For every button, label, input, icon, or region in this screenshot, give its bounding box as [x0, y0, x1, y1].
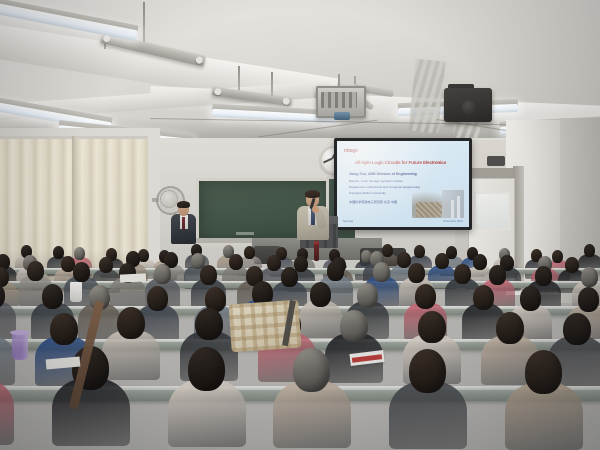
audience-member-head — [195, 308, 223, 341]
audience-member-head — [563, 313, 591, 346]
audience-member-head — [454, 264, 471, 284]
audience-member-head — [373, 262, 390, 282]
audience-member-head — [496, 312, 524, 345]
audience-member-head — [415, 284, 436, 309]
projection-screen-frame: mtage All Spin Logic Circuits for Future… — [334, 138, 472, 230]
audience-member-head — [310, 282, 331, 307]
white-cup — [70, 282, 82, 302]
speaker-cone — [462, 100, 476, 114]
projector-lens — [334, 112, 350, 120]
audience-member-head — [281, 267, 298, 287]
wall-mounted-box — [487, 156, 505, 166]
slide-photo-column — [451, 200, 454, 218]
audience-member-head — [27, 261, 44, 281]
audience-member-head — [99, 257, 113, 273]
light-suspension-rod — [143, 2, 145, 46]
audience-member-head — [340, 310, 368, 343]
audience-member-head — [520, 286, 541, 311]
audience-member-head — [525, 350, 562, 394]
audience-member-head — [42, 284, 63, 309]
slide-photo-column — [457, 196, 460, 218]
audience-member-head — [408, 263, 425, 283]
purple-cup — [12, 332, 28, 360]
projector-body — [321, 92, 357, 108]
audience-member-head — [73, 262, 90, 282]
audience-member-head — [409, 349, 446, 393]
chalk-mark — [236, 232, 254, 235]
audience-member-head — [267, 255, 281, 271]
audience-member-head — [565, 257, 579, 273]
audience-member-head — [357, 283, 378, 308]
audience-member-head — [188, 347, 225, 391]
light-suspension-rod — [271, 72, 273, 96]
lecture-hall-photo: mtage All Spin Logic Circuits for Future… — [0, 0, 600, 450]
audience-member-head — [397, 252, 411, 268]
light-suspension-rod — [238, 66, 240, 92]
audience-member-head — [535, 266, 552, 286]
audience-member-head — [293, 348, 330, 392]
presenter-hand — [312, 206, 319, 213]
host-hair — [177, 201, 190, 208]
screen-glare — [337, 141, 447, 227]
notebook-papers — [120, 273, 146, 282]
door-window-pane — [474, 192, 510, 230]
audience-member-head — [489, 265, 506, 285]
audience-member-head — [200, 265, 217, 285]
projection-screen: mtage All Spin Logic Circuits for Future… — [337, 141, 469, 227]
audience-member-head — [147, 286, 168, 311]
audience-member-head — [435, 253, 449, 269]
audience-member-head — [154, 264, 171, 284]
host-tie — [182, 217, 185, 230]
audience-member-head — [473, 285, 494, 310]
audience-member-head — [473, 254, 487, 270]
audience-member-head — [581, 267, 598, 287]
audience-member-head — [229, 254, 243, 270]
audience-member-head — [50, 313, 78, 346]
audience-member-head — [327, 261, 344, 281]
audience-member-head — [117, 307, 145, 340]
red-thermos — [314, 244, 319, 261]
purple-cup-lip — [10, 330, 30, 335]
audience-member-head — [418, 311, 446, 344]
audience-member-head — [578, 287, 599, 312]
